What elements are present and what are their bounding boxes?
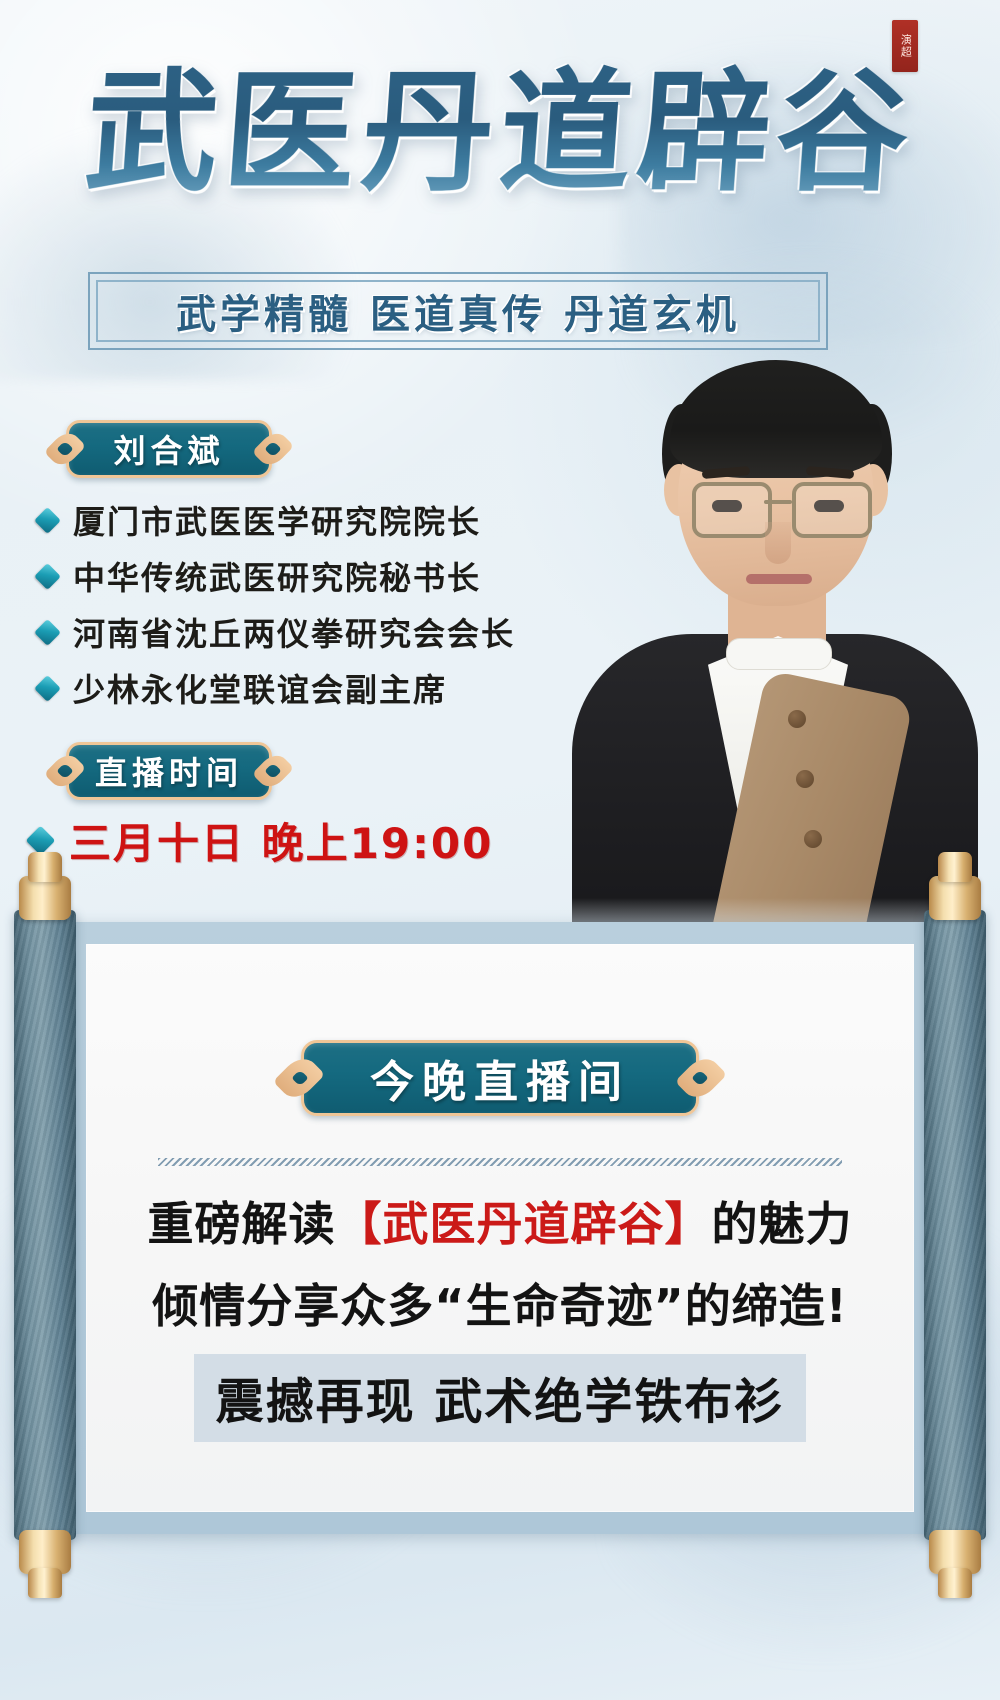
badge-gem-left-icon <box>57 441 74 458</box>
broadcast-datetime: 三月十日 晚上19:00 <box>69 810 493 871</box>
diamond-bullet-icon <box>26 826 56 856</box>
scroll-banner: 今晚直播间 重磅解读【武医丹道辟谷】的魅力 倾情分享众多“生命奇迹”的缔造! 震… <box>0 892 1000 1572</box>
portrait-nose <box>765 522 791 564</box>
scroll-content-area: 今晚直播间 重磅解读【武医丹道辟谷】的魅力 倾情分享众多“生命奇迹”的缔造! 震… <box>86 944 914 1512</box>
portrait-collar-band <box>726 638 832 670</box>
scroll-rod-left <box>14 910 76 1540</box>
scroll-knob-top-right <box>938 852 972 882</box>
portrait-button-2 <box>796 770 814 788</box>
badge-gem-left-icon <box>292 1070 309 1087</box>
portrait-mouth <box>746 574 812 584</box>
credential-text: 少林永化堂联谊会副主席 <box>73 665 447 711</box>
portrait-glasses-bridge <box>764 500 792 504</box>
list-item: 中华传统武医研究院秘书长 <box>38 548 638 604</box>
diamond-bullet-icon <box>34 619 61 646</box>
scroll-rod-right <box>924 910 986 1540</box>
credential-text: 河南省沈丘两仪拳研究会会长 <box>73 609 515 655</box>
broadcast-time-label: 直播时间 <box>95 748 243 794</box>
scroll-cap-top-left <box>19 876 71 920</box>
list-item: 少林永化堂联谊会副主席 <box>38 660 638 716</box>
portrait-button-1 <box>788 710 806 728</box>
diamond-bullet-icon <box>34 507 61 534</box>
scroll-knob-bottom-left <box>28 1568 62 1598</box>
subtitle-frame: 武学精髓 医道真传 丹道玄机 <box>88 272 828 350</box>
badge-gem-right-icon <box>265 763 282 780</box>
subtitle-text: 武学精髓 医道真传 丹道玄机 <box>90 274 826 348</box>
credential-text: 中华传统武医研究院秘书长 <box>73 553 481 599</box>
scroll-line-3-wrap: 震撼再现 武术绝学铁布衫 <box>86 1354 914 1442</box>
title-block: 武医丹道辟谷 <box>0 62 1000 205</box>
broadcast-time-badge: 直播时间 <box>66 742 272 800</box>
portrait-button-3 <box>804 830 822 848</box>
line1-suffix: 的魅力 <box>712 1197 853 1251</box>
scroll-paper: 今晚直播间 重磅解读【武医丹道辟谷】的魅力 倾情分享众多“生命奇迹”的缔造! 震… <box>62 922 938 1534</box>
list-item: 河南省沈丘两仪拳研究会会长 <box>38 604 638 660</box>
seal-stamp: 演超 <box>892 20 918 72</box>
poster-root: 武医丹道辟谷 演超 武学精髓 医道真传 丹道玄机 刘合斌 <box>0 0 1000 1700</box>
wavy-divider <box>158 1158 842 1166</box>
scroll-line-3: 震撼再现 武术绝学铁布衫 <box>194 1354 807 1442</box>
list-item: 厦门市武医医学研究院院长 <box>38 492 638 548</box>
speaker-name-label: 刘合斌 <box>113 426 224 472</box>
tonight-livestream-badge: 今晚直播间 <box>301 1040 699 1116</box>
badge-gem-left-icon <box>57 763 74 780</box>
broadcast-datetime-row: 三月十日 晚上19:00 <box>30 810 493 871</box>
speaker-name-badge: 刘合斌 <box>66 420 272 478</box>
line1-prefix: 重磅解读 <box>148 1197 336 1251</box>
portrait-glasses-right <box>792 482 872 538</box>
badge-gem-right-icon <box>692 1070 709 1087</box>
scroll-knob-top-left <box>28 852 62 882</box>
credentials-list: 厦门市武医医学研究院院长 中华传统武医研究院秘书长 河南省沈丘两仪拳研究会会长 … <box>38 492 638 716</box>
diamond-bullet-icon <box>34 563 61 590</box>
line1-highlight: 【武医丹道辟谷】 <box>336 1197 712 1251</box>
diamond-bullet-icon <box>34 675 61 702</box>
tonight-livestream-label: 今晚直播间 <box>370 1046 630 1110</box>
scroll-knob-bottom-right <box>938 1568 972 1598</box>
portrait-glasses-left <box>692 482 772 538</box>
scroll-line-2: 倾情分享众多“生命奇迹”的缔造! <box>86 1270 914 1336</box>
portrait-hair <box>670 360 882 478</box>
scroll-line-1: 重磅解读【武医丹道辟谷】的魅力 <box>86 1188 914 1254</box>
scroll-cap-top-right <box>929 876 981 920</box>
badge-gem-right-icon <box>265 441 282 458</box>
credential-text: 厦门市武医医学研究院院长 <box>73 497 481 543</box>
page-title: 武医丹道辟谷 <box>81 62 919 205</box>
